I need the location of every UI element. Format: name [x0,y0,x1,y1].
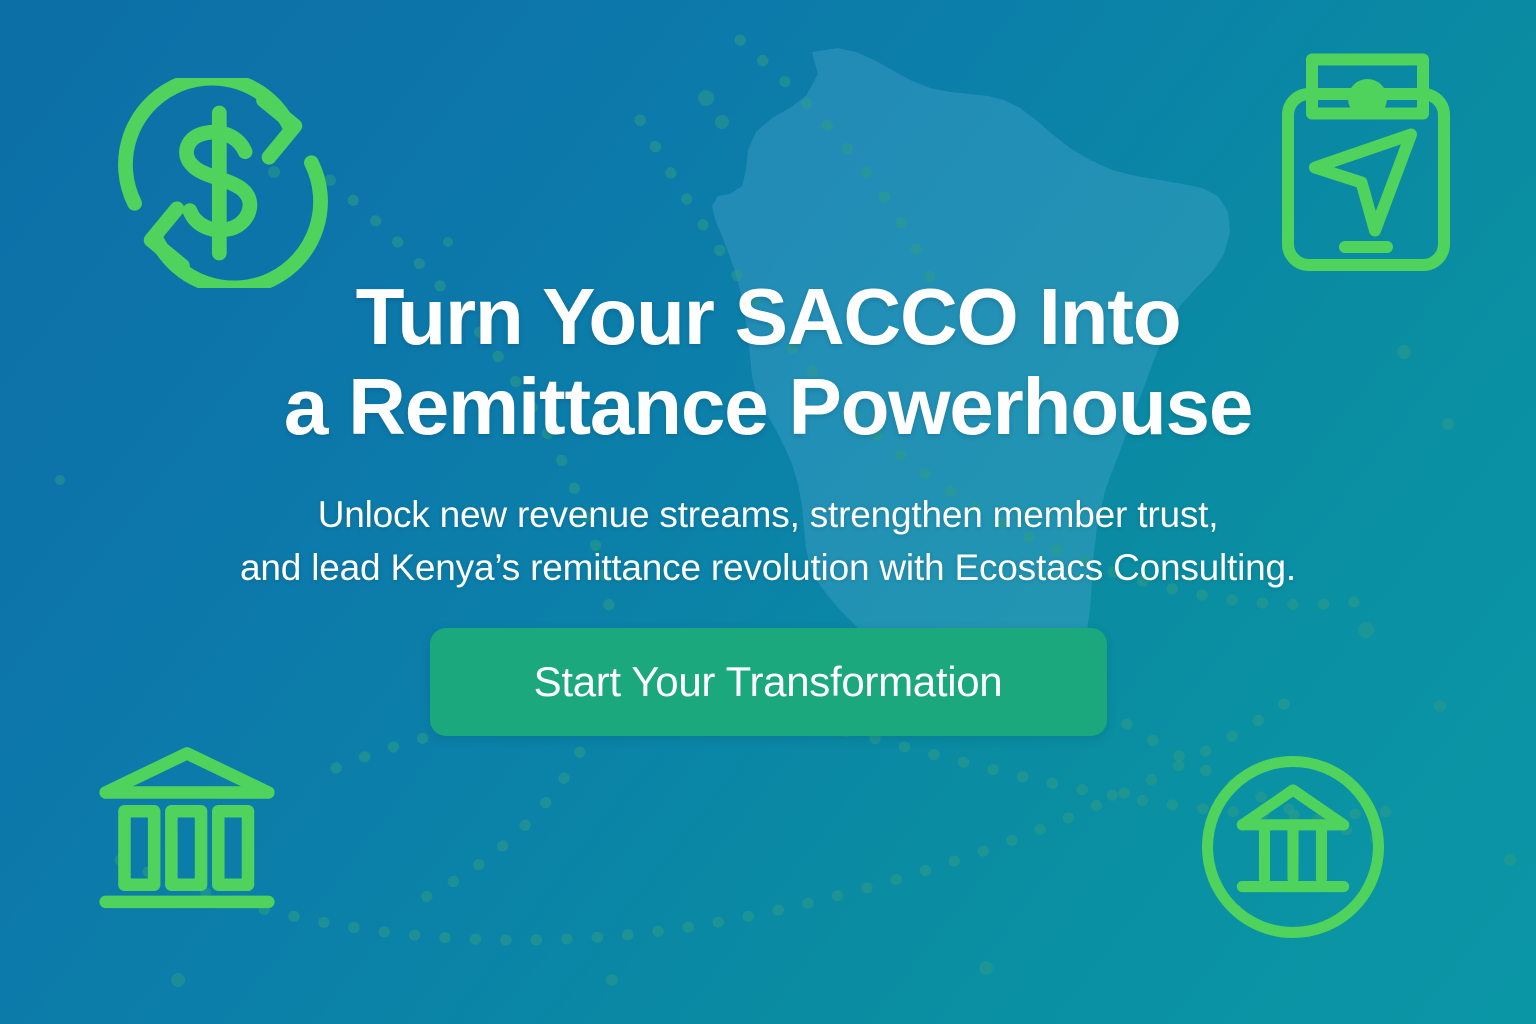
start-your-transformation-button[interactable]: Start Your Transformation [430,628,1107,736]
subtitle-line-2: and lead Kenya’s remittance revolution w… [88,542,1448,595]
remittance-hero-banner: Turn Your SACCO Into a Remittance Powerh… [0,0,1536,1024]
subtitle-line-1: Unlock new revenue streams, strengthen m… [88,489,1448,542]
page-title: Turn Your SACCO Into a Remittance Powerh… [168,272,1368,451]
hero-content: Turn Your SACCO Into a Remittance Powerh… [0,0,1536,1024]
page-subtitle: Unlock new revenue streams, strengthen m… [88,489,1448,594]
headline-line-1: Turn Your SACCO Into [168,272,1368,362]
headline-line-2: a Remittance Powerhouse [168,362,1368,452]
